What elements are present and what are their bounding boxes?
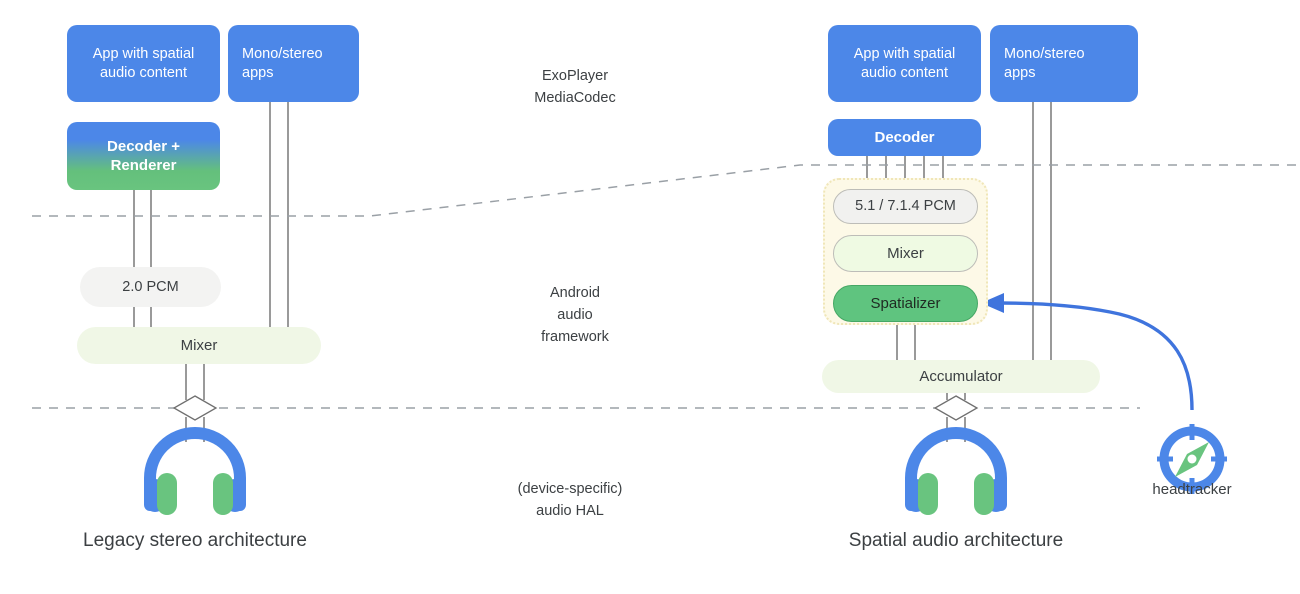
right-accumulator-pill: Accumulator [822, 360, 1100, 393]
center-caption-hal-layer: (device-specific) audio HAL [440, 479, 700, 523]
diamond-connector-icon-right [935, 396, 977, 420]
right-spatializer-label: Spatializer [870, 294, 940, 313]
headtracker-label: headtracker [1112, 481, 1272, 498]
left-mono-stereo-apps[interactable]: Mono/stereo apps [228, 25, 359, 102]
center-caption-app-layer: ExoPlayer MediaCodec [445, 66, 705, 110]
right-accumulator-label: Accumulator [919, 367, 1002, 386]
left-app-spatial-label: App with spatial audio content [93, 45, 195, 82]
right-mixer-label: Mixer [887, 244, 924, 263]
diagram-canvas: App with spatial audio content Mono/ster… [0, 0, 1300, 594]
left-mixer-label: Mixer [181, 336, 218, 355]
layer-divider-upper [32, 165, 1300, 216]
right-decoder-label: Decoder [874, 128, 934, 147]
left-mixer-pill: Mixer [77, 327, 321, 364]
headphones-icon-left [144, 433, 246, 515]
left-app-with-spatial-audio-content[interactable]: App with spatial audio content [67, 25, 220, 102]
right-decoder[interactable]: Decoder [828, 119, 981, 156]
right-mono-stereo-label: Mono/stereo apps [1004, 45, 1085, 82]
left-architecture-title: Legacy stereo architecture [0, 530, 405, 552]
center-caption-framework-layer: Android audio framework [445, 283, 705, 348]
diamond-connector-icon-left [174, 396, 216, 420]
left-pcm-pill: 2.0 PCM [80, 267, 221, 307]
right-spatializer-pill: Spatializer [833, 285, 978, 322]
right-app-spatial-label: App with spatial audio content [854, 45, 956, 82]
right-mono-stereo-apps[interactable]: Mono/stereo apps [990, 25, 1138, 102]
right-pcm-label: 5.1 / 7.1.4 PCM [855, 197, 956, 216]
right-app-with-spatial-audio-content[interactable]: App with spatial audio content [828, 25, 981, 102]
left-decoder-renderer[interactable]: Decoder + Renderer [67, 122, 220, 190]
right-pcm-pill: 5.1 / 7.1.4 PCM [833, 189, 978, 224]
right-mixer-pill: Mixer [833, 235, 978, 272]
right-architecture-title: Spatial audio architecture [746, 530, 1166, 552]
left-decoder-renderer-label: Decoder + Renderer [107, 137, 180, 175]
left-pcm-label: 2.0 PCM [122, 278, 178, 297]
headphones-icon-right [905, 433, 1007, 515]
left-mono-stereo-label: Mono/stereo apps [242, 45, 323, 82]
